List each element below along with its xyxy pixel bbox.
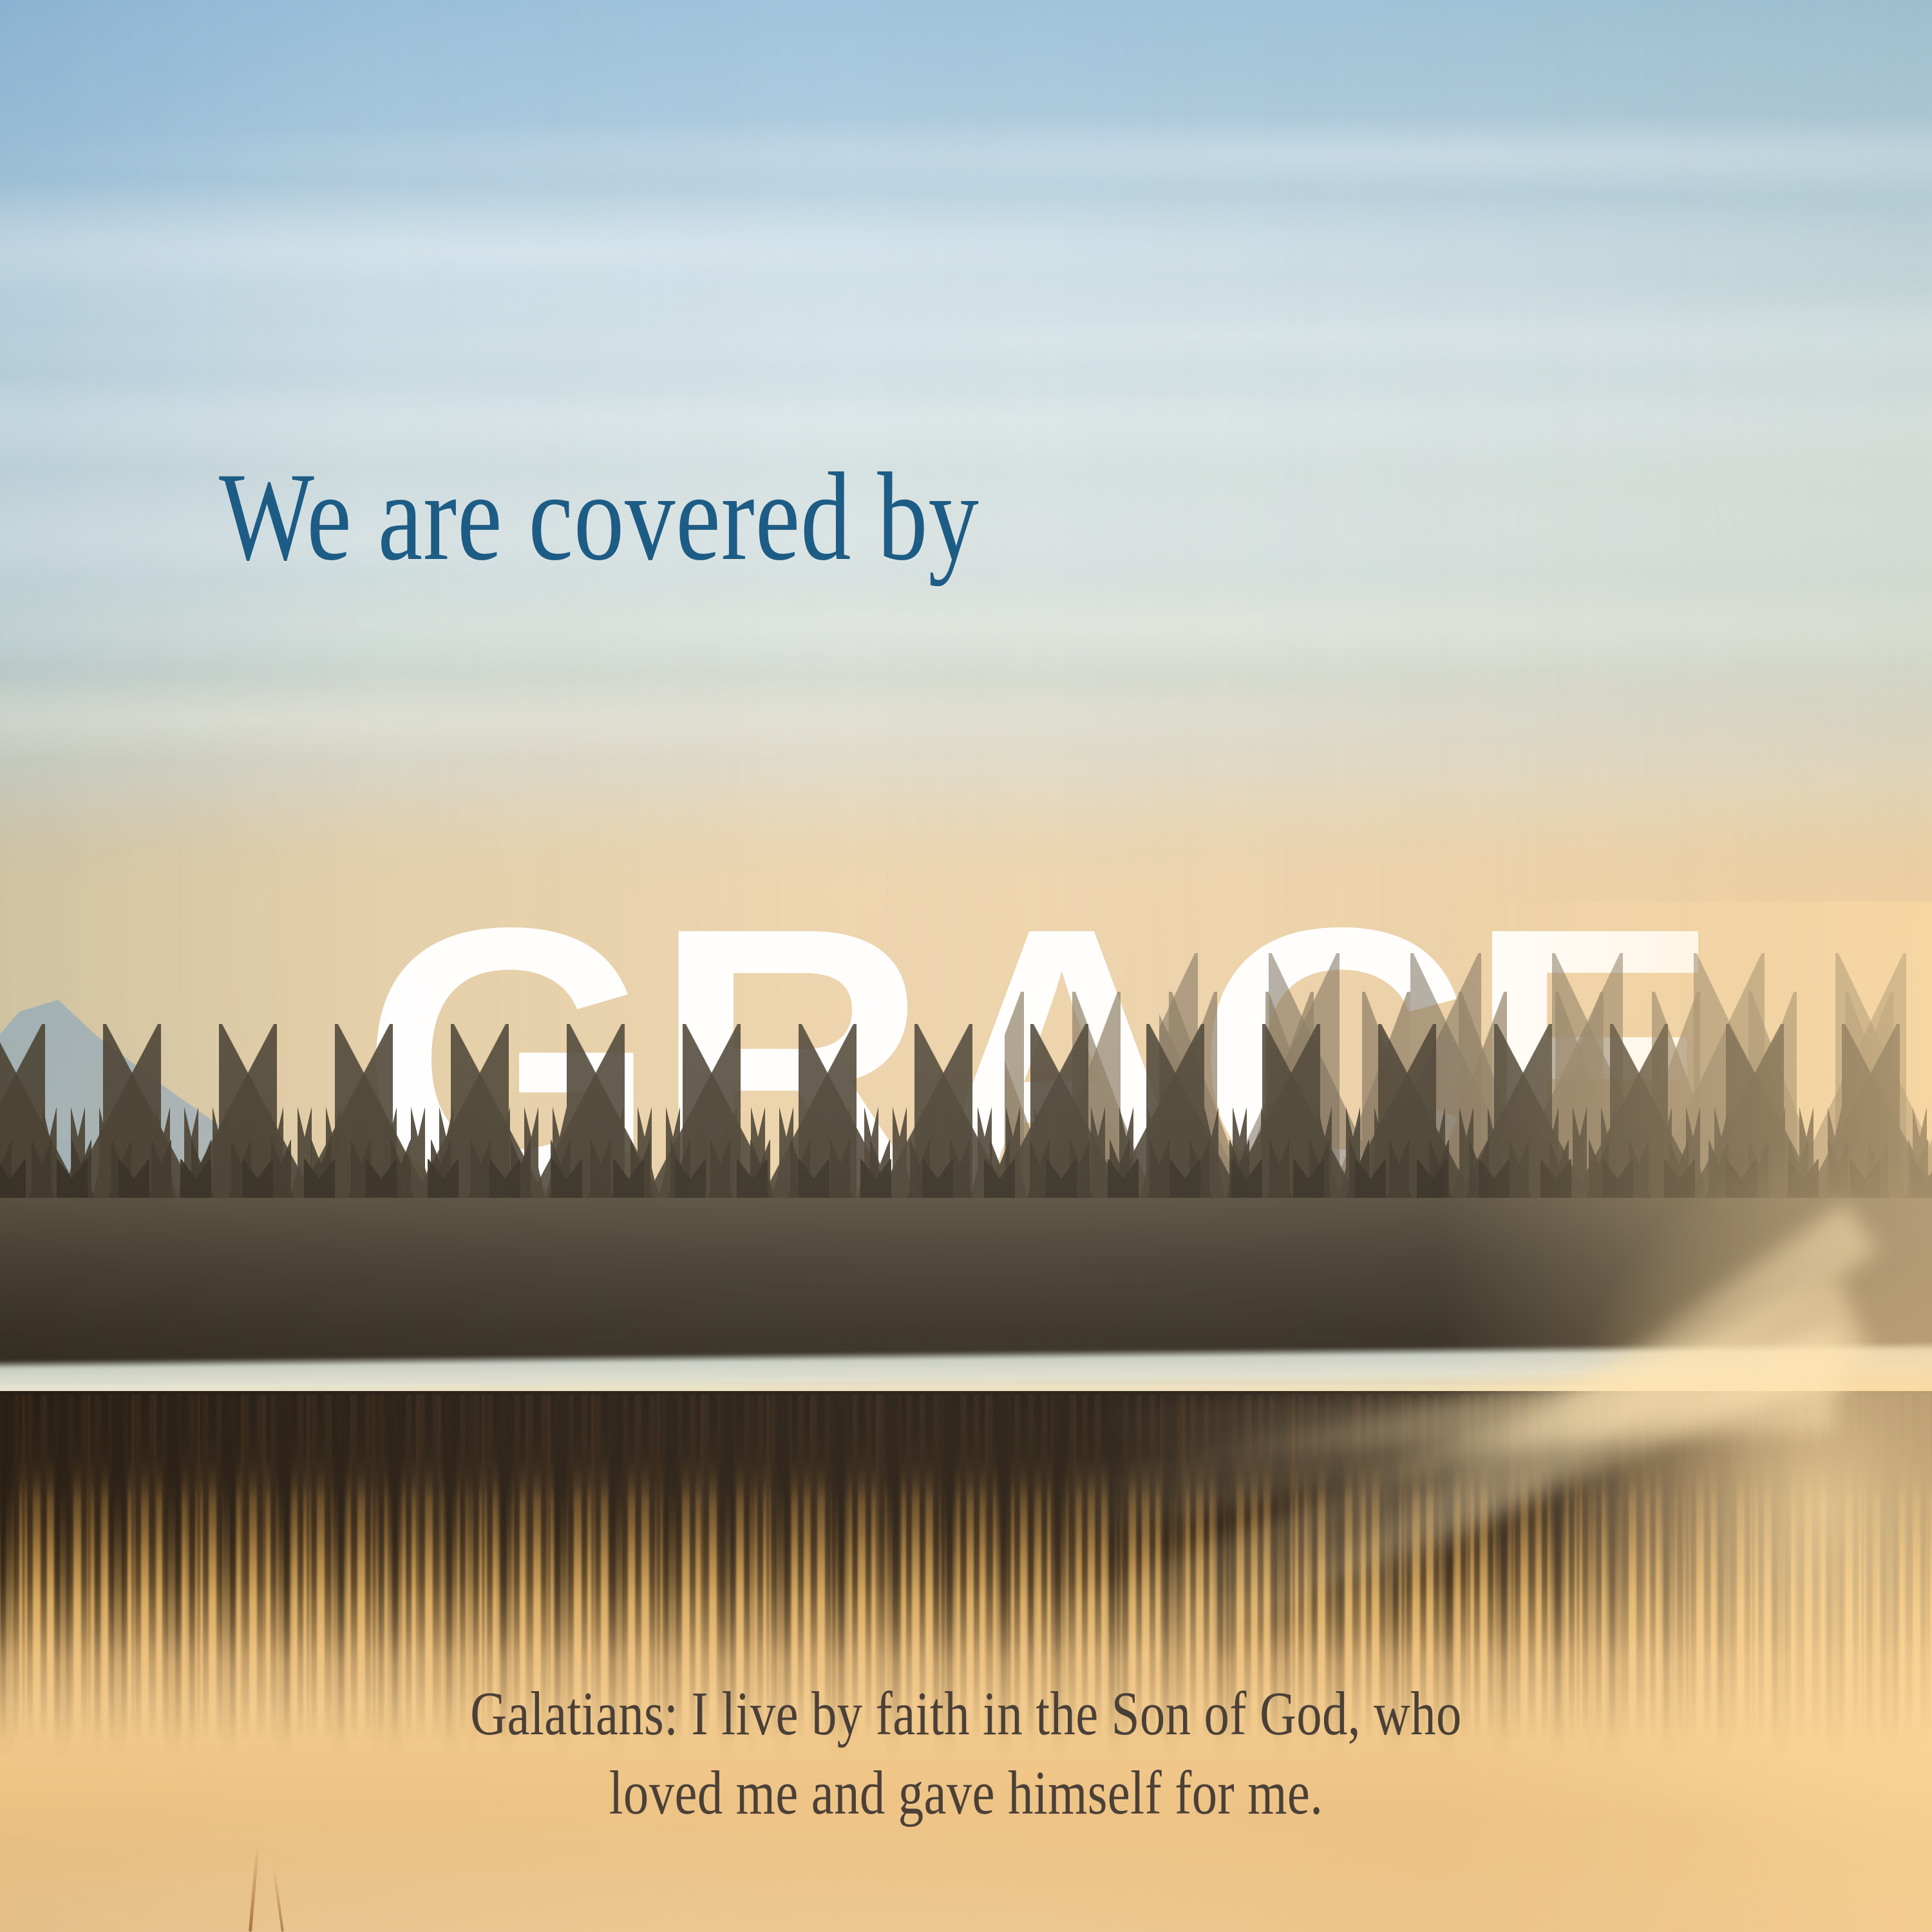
caption-line-1: Galatians: I live by faith in the Son of… <box>174 1674 1758 1754</box>
caption-line-2: loved me and gave himself for me. <box>174 1754 1758 1833</box>
headline-text: We are covered by <box>219 454 980 580</box>
scripture-caption: Galatians: I live by faith in the Son of… <box>0 1674 1932 1833</box>
poster-canvas: GRACE We are covered by Galatians: I liv… <box>0 0 1932 1932</box>
